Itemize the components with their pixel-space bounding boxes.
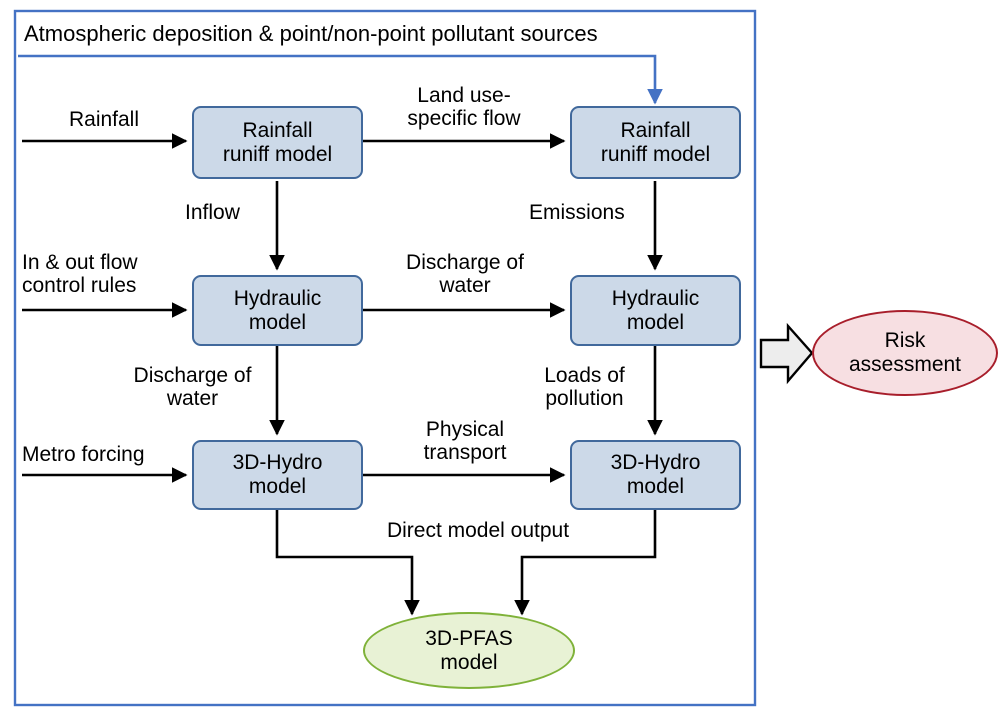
edge-label-discharge-of-water-mid: Discharge of water — [380, 251, 550, 297]
edge-label-direct-model-output: Direct model output — [348, 519, 608, 542]
node-label: 3D-Hydro model — [233, 451, 323, 498]
node-hydraulic-model-right[interactable]: Hydraulic model — [570, 275, 741, 346]
node-3d-hydro-model-right[interactable]: 3D-Hydro model — [570, 440, 741, 510]
edge-label-rainfall: Rainfall — [24, 108, 184, 131]
node-label: Rainfall runiff model — [601, 119, 710, 166]
node-3d-pfas-model[interactable]: 3D-PFAS model — [363, 612, 575, 689]
edge-label-inflow: Inflow — [185, 201, 275, 224]
node-label: 3D-Hydro model — [611, 451, 701, 498]
node-3d-hydro-model-left[interactable]: 3D-Hydro model — [192, 440, 363, 510]
atmospheric-deposition-connector — [18, 56, 655, 103]
diagram-canvas: Atmospheric deposition & point/non-point… — [0, 0, 1007, 719]
edge-label-metro-forcing: Metro forcing — [22, 443, 192, 466]
page-title: Atmospheric deposition & point/non-point… — [24, 22, 598, 46]
edge-label-land-use-specific-flow: Land use- specific flow — [378, 84, 550, 130]
edge-label-emissions: Emissions — [529, 201, 654, 224]
node-rainfall-runoff-left[interactable]: Rainfall runiff model — [192, 106, 363, 179]
node-label: Rainfall runiff model — [223, 119, 332, 166]
edge-label-discharge-of-water-left: Discharge of water — [110, 364, 275, 410]
gray-block-arrow-icon — [761, 326, 812, 381]
node-label: Hydraulic model — [612, 287, 700, 334]
edge-label-physical-transport: Physical transport — [392, 418, 538, 464]
node-label: Hydraulic model — [234, 287, 322, 334]
node-rainfall-runoff-right[interactable]: Rainfall runiff model — [570, 106, 741, 179]
node-hydraulic-model-left[interactable]: Hydraulic model — [192, 275, 363, 346]
node-label: 3D-PFAS model — [425, 627, 513, 674]
edge-label-in-out-flow-control-rules: In & out flow control rules — [22, 251, 192, 297]
node-risk-assessment[interactable]: Risk assessment — [812, 310, 998, 396]
node-label: Risk assessment — [849, 329, 961, 376]
edge-label-loads-of-pollution: Loads of pollution — [516, 364, 653, 410]
